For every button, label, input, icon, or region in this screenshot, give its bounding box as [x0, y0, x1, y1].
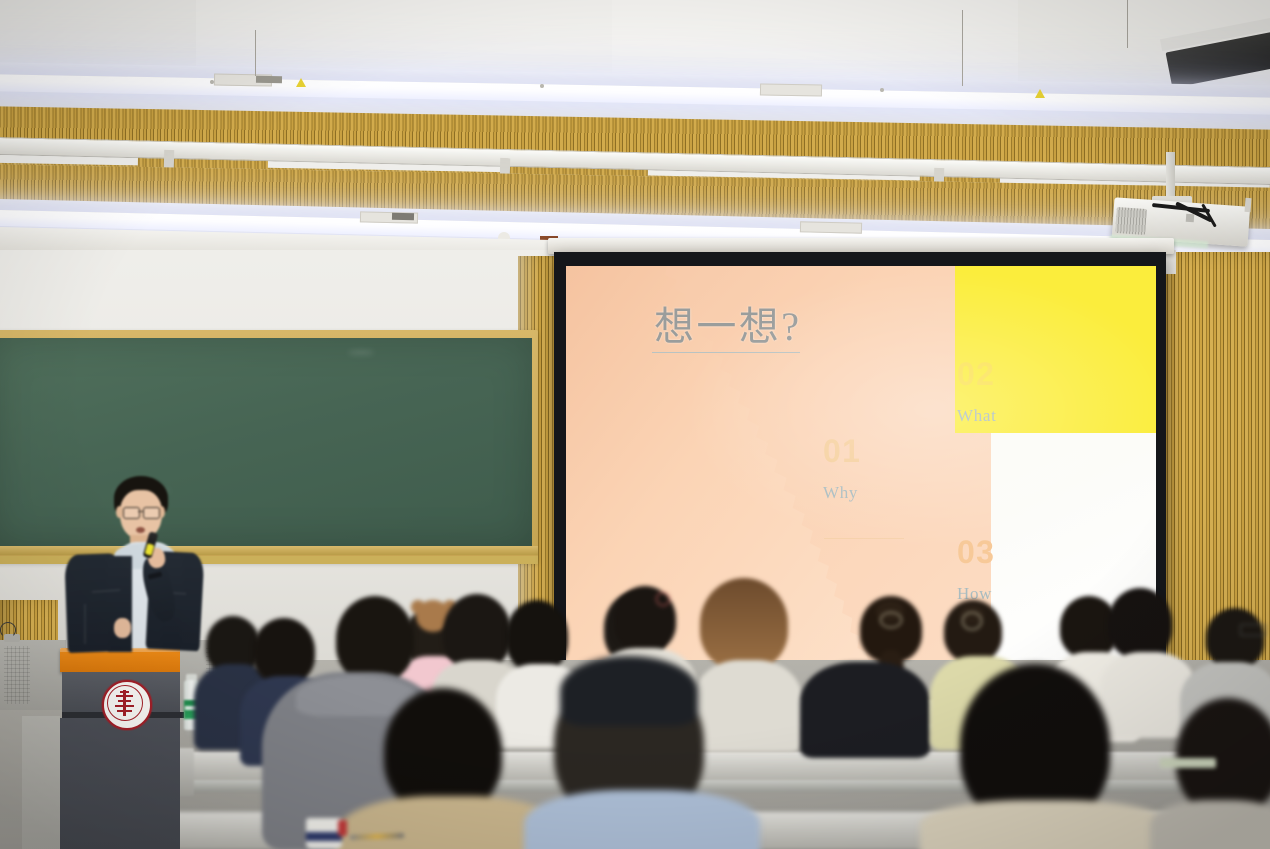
notebook-on-desk: [1160, 758, 1216, 768]
presenter-glasses: [123, 507, 140, 519]
lecture-hall-photo: 想一想? 02 What 01 Why 03 How: [0, 0, 1270, 849]
chalkboard: [0, 338, 532, 546]
ceiling: [0, 0, 1270, 270]
lectern-lower-panel: [58, 718, 180, 849]
